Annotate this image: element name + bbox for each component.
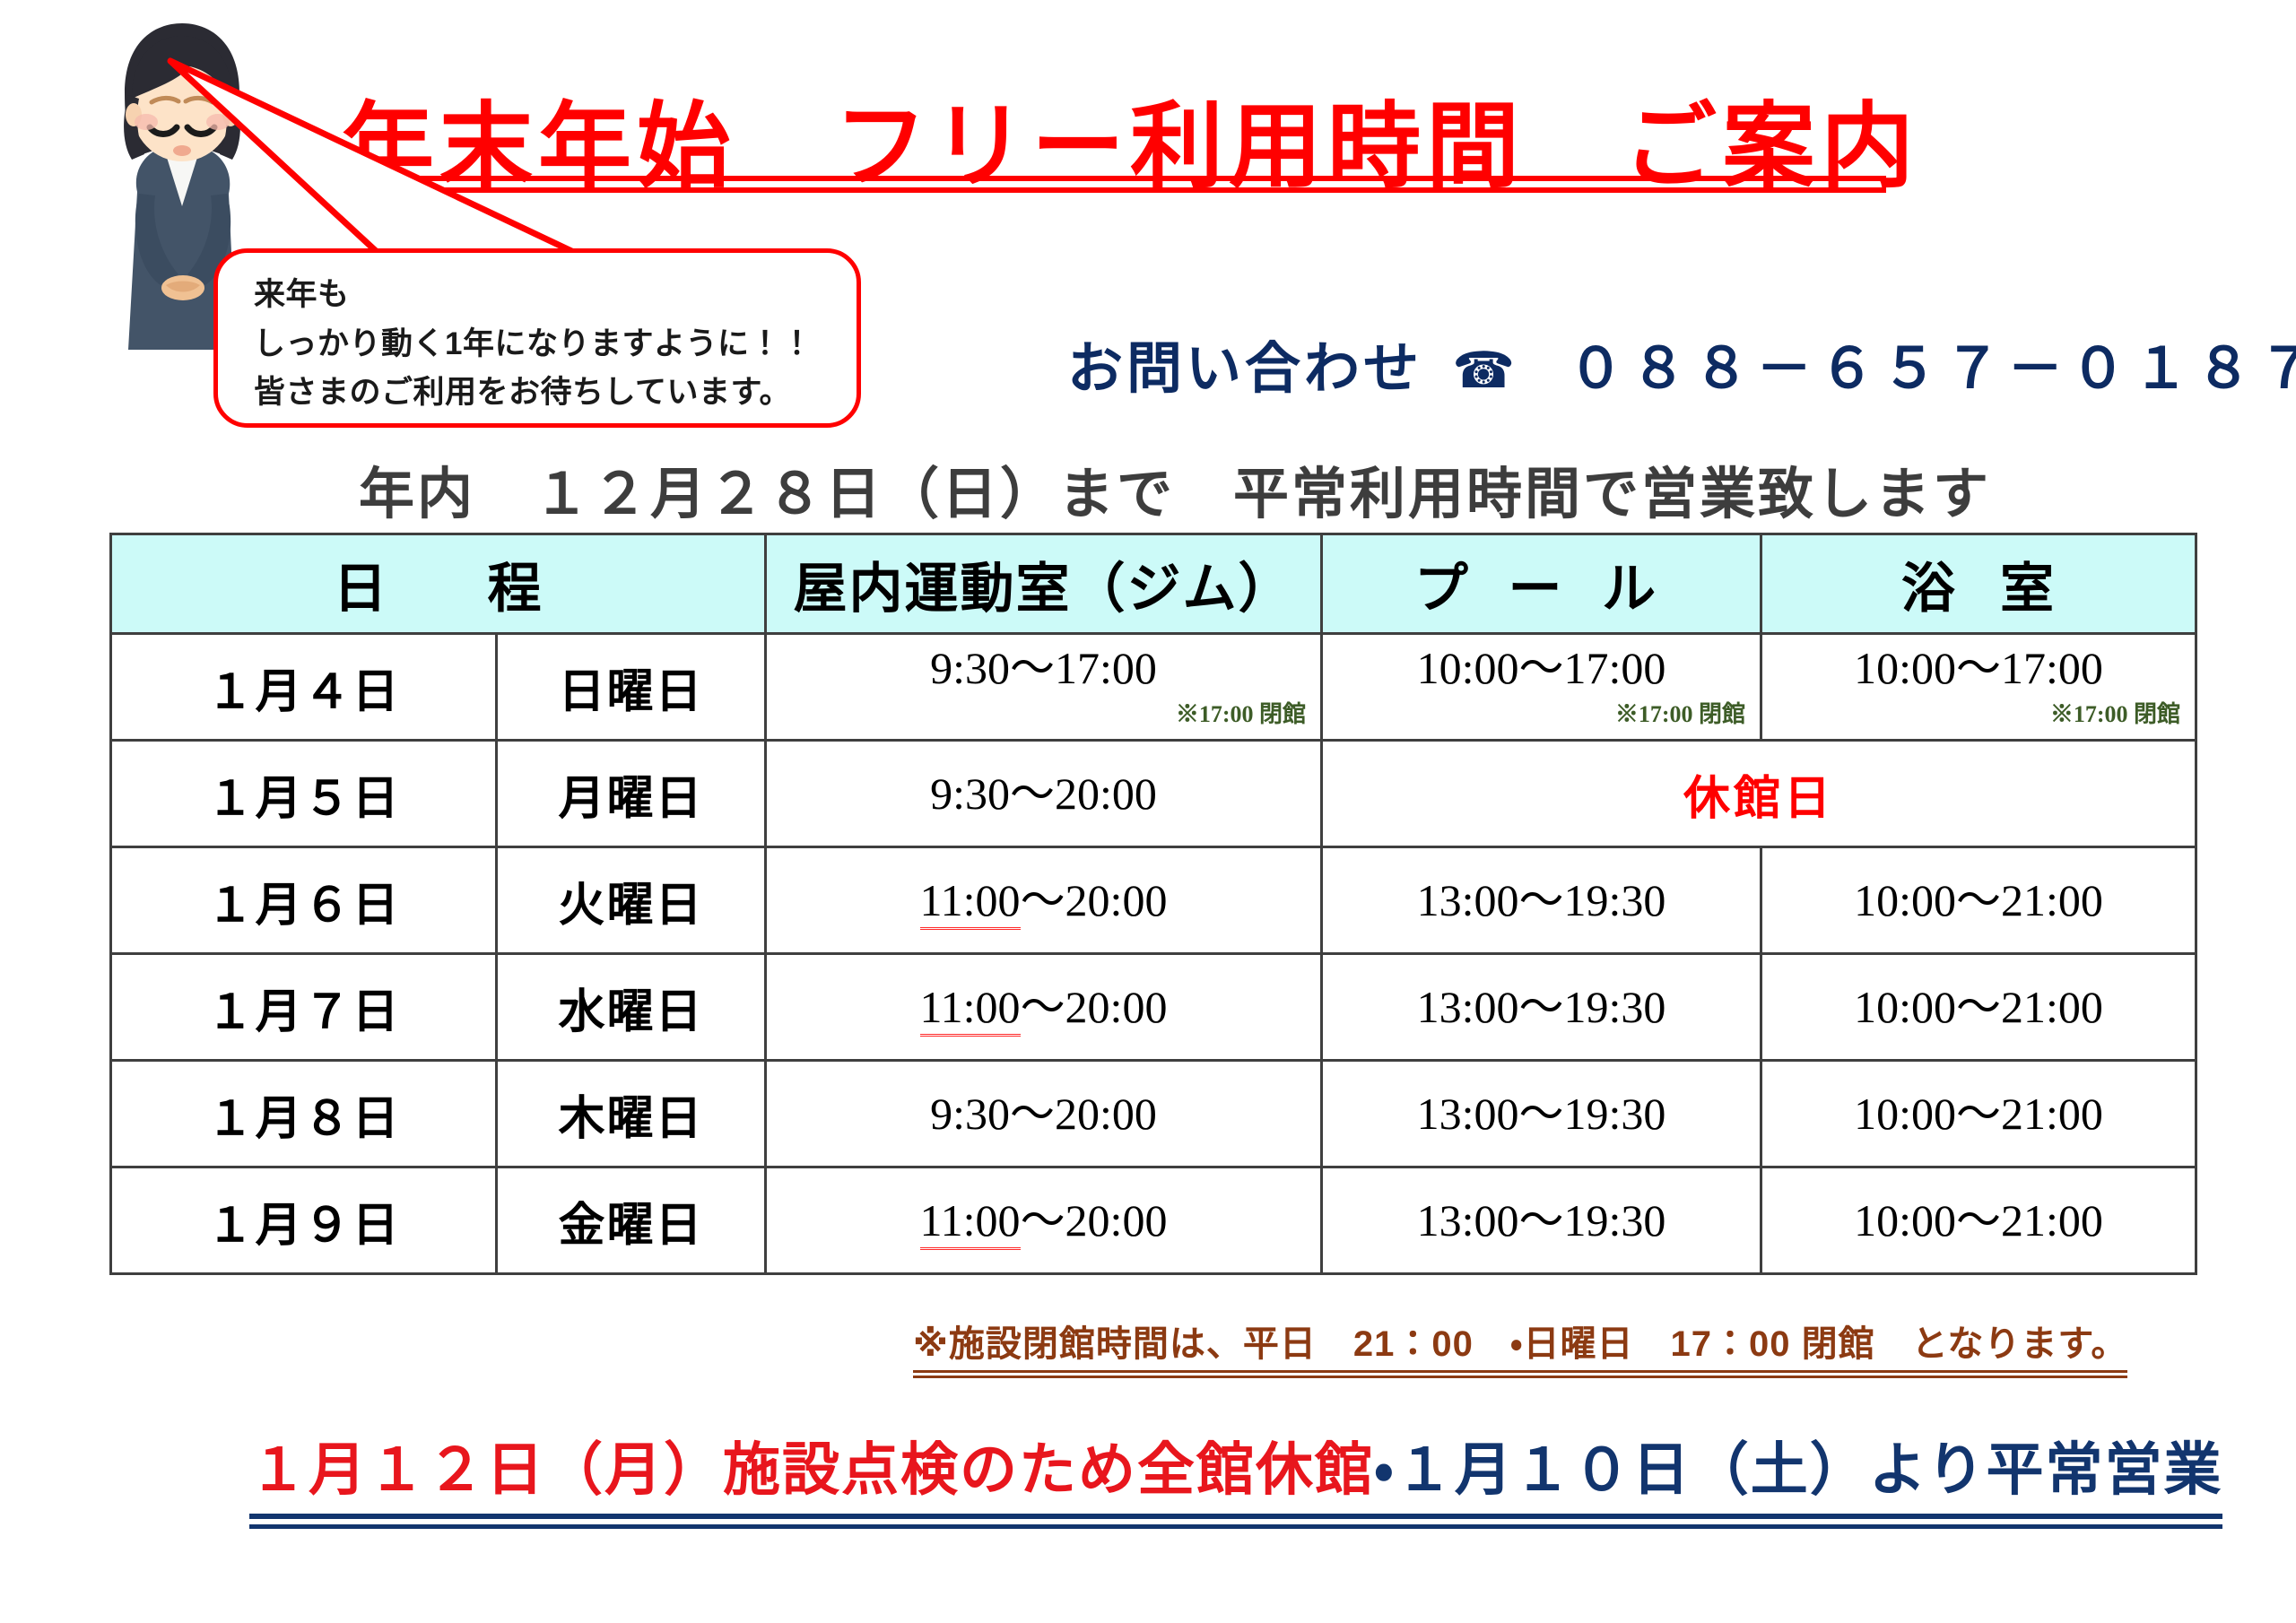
speech-bubble-text: 来年も しっかり動く1年になりますように！！ 皆さまのご利用をお待ちしています。 bbox=[254, 271, 846, 418]
row-weekday: 日曜日 bbox=[497, 634, 766, 741]
column-header-date-part1: 日 bbox=[334, 559, 389, 619]
row-bath-hours: 10:00〜21:00 bbox=[1761, 1167, 2196, 1274]
table-row: １月９日 金曜日 11:00〜20:00 13:00〜19:30 10:00〜2… bbox=[111, 1167, 2196, 1274]
column-header-bath-part1: 浴 bbox=[1901, 559, 1957, 619]
bath-time: 10:00〜21:00 bbox=[1762, 877, 2195, 924]
row-pool-hours: 10:00〜17:00 ※17:00 閉館 bbox=[1322, 634, 1761, 741]
table-header-row: 日程 屋内運動室（ジム） プ ー ル 浴室 bbox=[111, 534, 2196, 634]
bottom-banner-text: １月１２日（月）施設点検のため全館休館・１月１０日（土）より平常営業 bbox=[249, 1424, 2222, 1506]
gym-time-end: 〜20:00 bbox=[1021, 875, 1168, 925]
table-row: １月６日 火曜日 11:00〜20:00 13:00〜19:30 10:00〜2… bbox=[111, 847, 2196, 954]
row-pool-hours: 13:00〜19:30 bbox=[1322, 954, 1761, 1061]
gym-time: 11:00〜20:00 bbox=[767, 877, 1320, 924]
row-weekday: 水曜日 bbox=[497, 954, 766, 1061]
row-weekday: 金曜日 bbox=[497, 1167, 766, 1274]
gym-time-start: 11:00 bbox=[920, 875, 1021, 930]
telephone-icon: ☎ bbox=[1452, 342, 1518, 398]
schedule-table-wrap: 日程 屋内運動室（ジム） プ ー ル 浴室 １月４日 日曜日 9:30〜17:0… bbox=[109, 533, 2195, 1275]
row-weekday: 火曜日 bbox=[497, 847, 766, 954]
banner-closure-notice: １月１２日（月）施設点検のため全館休館 bbox=[249, 1437, 1374, 1502]
row-bath-hours: 10:00〜21:00 bbox=[1761, 847, 2196, 954]
table-row: １月８日 木曜日 9:30〜20:00 13:00〜19:30 10:00〜21… bbox=[111, 1061, 2196, 1167]
row-bath-hours: 10:00〜21:00 bbox=[1761, 954, 2196, 1061]
pool-time: 13:00〜19:30 bbox=[1323, 877, 1760, 924]
row-gym-hours: 11:00〜20:00 bbox=[766, 1167, 1322, 1274]
title-double-rule bbox=[344, 176, 1886, 193]
bubble-line-2: しっかり動く1年になりますように！！ bbox=[254, 320, 846, 369]
gym-closing-note: ※17:00 閉館 bbox=[767, 696, 1320, 729]
gym-time: 11:00〜20:00 bbox=[767, 984, 1320, 1031]
table-row: １月７日 水曜日 11:00〜20:00 13:00〜19:30 10:00〜2… bbox=[111, 954, 2196, 1061]
banner-reopen-notice: ・１月１０日（土）より平常営業 bbox=[1374, 1437, 2222, 1502]
bottom-banner-block: １月１２日（月）施設点検のため全館休館・１月１０日（土）より平常営業 bbox=[249, 1424, 2222, 1529]
gym-time: 11:00〜20:00 bbox=[767, 1197, 1320, 1245]
closed-day-badge: 休館日 bbox=[1322, 741, 2196, 847]
subtitle-block: 年内 １２月２８日（日）まで 平常利用時間で営業致します bbox=[359, 448, 1991, 545]
row-date: １月４日 bbox=[111, 634, 497, 741]
gym-time-end: 〜20:00 bbox=[1021, 1195, 1168, 1245]
bubble-line-1: 来年も bbox=[254, 271, 846, 320]
table-row: １月５日 月曜日 9:30〜20:00 休館日 bbox=[111, 741, 2196, 847]
bath-time: 10:00〜21:00 bbox=[1762, 1197, 2195, 1245]
row-gym-hours: 11:00〜20:00 bbox=[766, 954, 1322, 1061]
contact-phone-number: ０８８－６５７－０１８７ bbox=[1568, 338, 2296, 400]
pool-time: 10:00〜17:00 bbox=[1323, 645, 1760, 692]
column-header-date-part2: 程 bbox=[488, 559, 544, 619]
row-gym-hours: 11:00〜20:00 bbox=[766, 847, 1322, 954]
pool-time: 13:00〜19:30 bbox=[1323, 984, 1760, 1031]
gym-time-start: 11:00 bbox=[920, 1195, 1021, 1250]
subtitle-text: 年内 １２月２８日（日）まで 平常利用時間で営業致します bbox=[359, 448, 1991, 529]
bath-time: 10:00〜21:00 bbox=[1762, 1090, 2195, 1138]
row-date: １月７日 bbox=[111, 954, 497, 1061]
gym-time-end: 〜20:00 bbox=[1021, 982, 1168, 1032]
contact-line: お問い合わせ ☎ ０８８－６５７－０１８７ bbox=[1067, 323, 2296, 404]
row-weekday: 月曜日 bbox=[497, 741, 766, 847]
row-weekday: 木曜日 bbox=[497, 1061, 766, 1167]
row-date: １月９日 bbox=[111, 1167, 497, 1274]
row-pool-hours: 13:00〜19:30 bbox=[1322, 1061, 1761, 1167]
table-row: １月４日 日曜日 9:30〜17:00 ※17:00 閉館 10:00〜17:0… bbox=[111, 634, 2196, 741]
gym-time: 9:30〜20:00 bbox=[767, 1090, 1320, 1138]
speech-bubble: 来年も しっかり動く1年になりますように！！ 皆さまのご利用をお待ちしています。 bbox=[213, 248, 861, 428]
bath-closing-note: ※17:00 閉館 bbox=[1762, 696, 2195, 729]
column-header-pool: プ ー ル bbox=[1322, 534, 1761, 634]
bath-time: 10:00〜17:00 bbox=[1762, 645, 2195, 692]
gym-time-start: 11:00 bbox=[920, 982, 1021, 1037]
column-header-gym: 屋内運動室（ジム） bbox=[766, 534, 1322, 634]
column-header-date: 日程 bbox=[111, 534, 766, 634]
row-date: １月５日 bbox=[111, 741, 497, 847]
row-bath-hours: 10:00〜21:00 bbox=[1761, 1061, 2196, 1167]
row-pool-hours: 13:00〜19:30 bbox=[1322, 1167, 1761, 1274]
pool-time: 13:00〜19:30 bbox=[1323, 1090, 1760, 1138]
bath-time: 10:00〜21:00 bbox=[1762, 984, 2195, 1031]
row-gym-hours: 9:30〜20:00 bbox=[766, 1061, 1322, 1167]
footnote-block: ※施設閉館時間は、平日 21：00 ・日曜日 17：00 閉館 となります。 bbox=[913, 1315, 2127, 1378]
notice-page: 年末年始 フリー利用時間 ご案内 来年も しっかり動く1年になりますように！！ … bbox=[0, 0, 2296, 1623]
row-date: １月６日 bbox=[111, 847, 497, 954]
bubble-line-3: 皆さまのご利用をお待ちしています。 bbox=[254, 369, 846, 418]
row-gym-hours: 9:30〜17:00 ※17:00 閉館 bbox=[766, 634, 1322, 741]
gym-time: 9:30〜20:00 bbox=[767, 770, 1320, 818]
footnote-text: ※施設閉館時間は、平日 21：00 ・日曜日 17：00 閉館 となります。 bbox=[913, 1315, 2127, 1367]
schedule-table: 日程 屋内運動室（ジム） プ ー ル 浴室 １月４日 日曜日 9:30〜17:0… bbox=[109, 533, 2197, 1275]
row-date: １月８日 bbox=[111, 1061, 497, 1167]
pool-time: 13:00〜19:30 bbox=[1323, 1197, 1760, 1245]
column-header-bath-part2: 室 bbox=[2000, 559, 2056, 619]
banner-double-rule bbox=[249, 1514, 2222, 1529]
footnote-double-rule bbox=[913, 1370, 2127, 1378]
gym-time: 9:30〜17:00 bbox=[767, 645, 1320, 692]
column-header-bath: 浴室 bbox=[1761, 534, 2196, 634]
pool-closing-note: ※17:00 閉館 bbox=[1323, 696, 1760, 729]
row-gym-hours: 9:30〜20:00 bbox=[766, 741, 1322, 847]
row-pool-hours: 13:00〜19:30 bbox=[1322, 847, 1761, 954]
row-bath-hours: 10:00〜17:00 ※17:00 閉館 bbox=[1761, 634, 2196, 741]
contact-label: お問い合わせ bbox=[1067, 338, 1422, 400]
